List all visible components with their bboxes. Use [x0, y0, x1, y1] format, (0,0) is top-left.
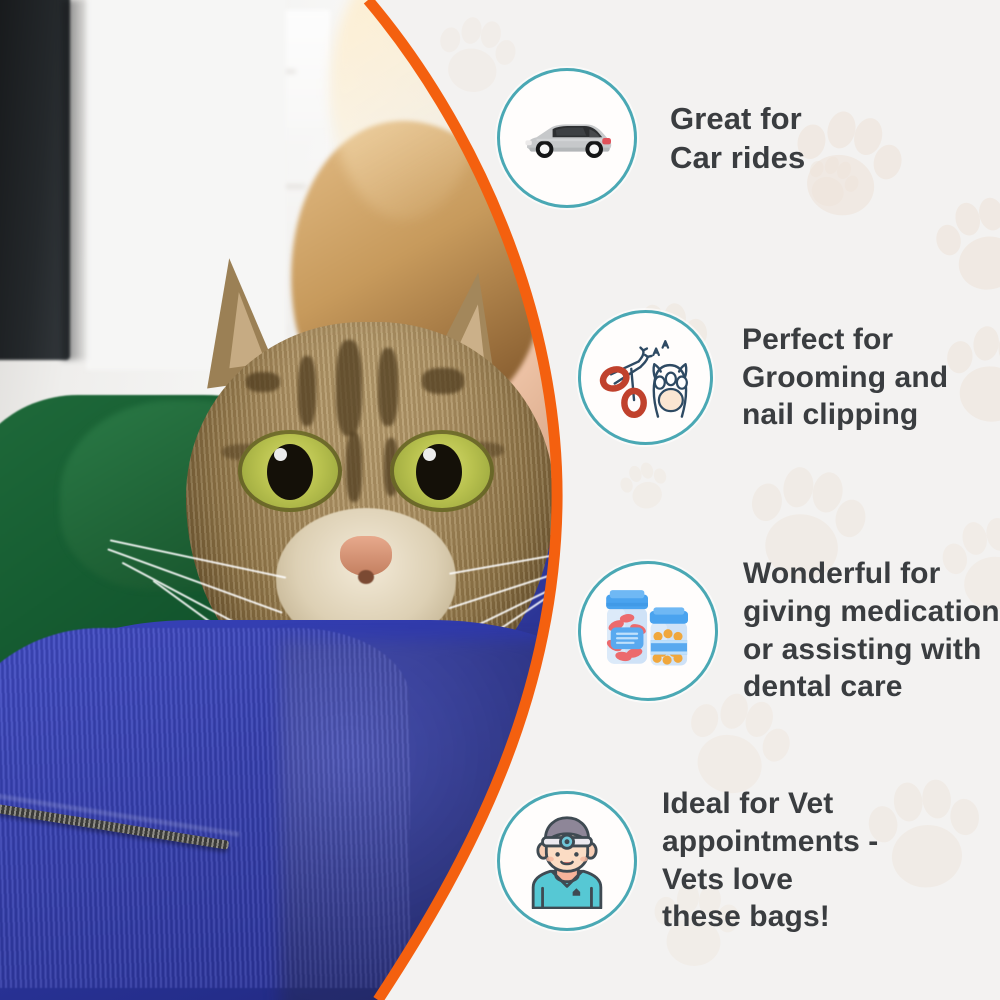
feature-icon-bubble — [578, 561, 718, 701]
feature-label: Perfect for Grooming and nail clipping — [742, 321, 948, 434]
feature-icon-bubble — [578, 310, 713, 445]
veterinarian-icon — [520, 813, 614, 909]
feature-poster: Great for Car rides — [0, 0, 1000, 1000]
feature-label: Ideal for Vet appointments - Vets love t… — [662, 785, 878, 936]
car-icon — [519, 108, 615, 168]
feature-item-grooming[interactable]: Perfect for Grooming and nail clipping — [578, 310, 948, 445]
feature-item-vet[interactable]: Ideal for Vet appointments - Vets love t… — [497, 785, 878, 936]
feature-label: Great for Car rides — [670, 99, 805, 177]
pill-bottles-icon — [598, 585, 698, 677]
feature-item-car-rides[interactable]: Great for Car rides — [497, 68, 805, 208]
feature-icon-bubble — [497, 68, 637, 208]
nail-clipper-paw-icon — [598, 332, 694, 424]
feature-label: Wonderful for giving medication or assis… — [743, 555, 1000, 706]
feature-item-medication[interactable]: Wonderful for giving medication or assis… — [578, 555, 1000, 706]
feature-list: Great for Car rides — [0, 0, 1000, 1000]
feature-icon-bubble — [497, 791, 637, 931]
